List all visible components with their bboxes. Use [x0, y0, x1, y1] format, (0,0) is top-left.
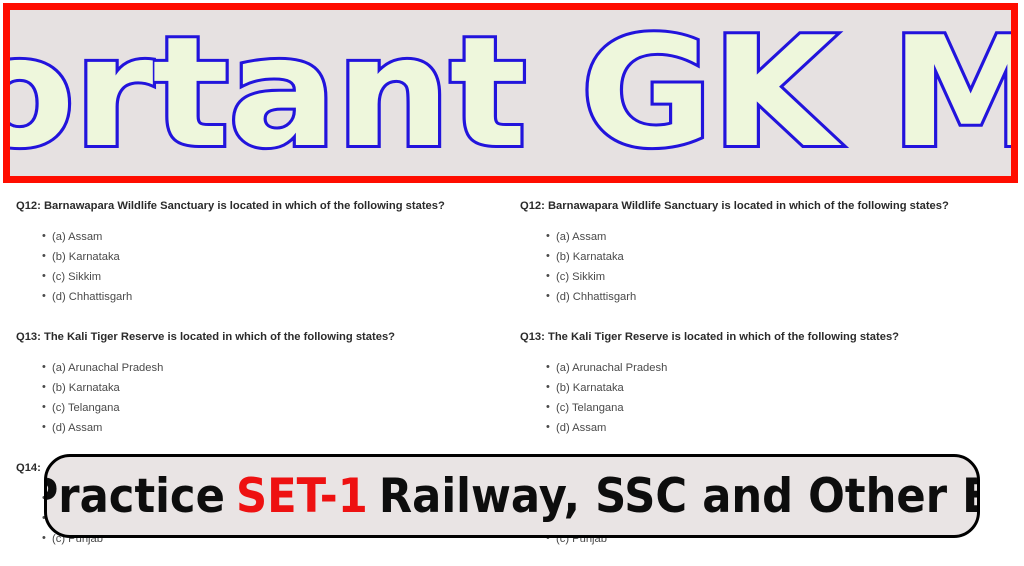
page-title: Important GK MCQs [3, 17, 1018, 169]
question-text-q12: Q12: Barnawapara Wildlife Sanctuary is l… [16, 199, 516, 214]
question-text-q12-right: Q12: Barnawapara Wildlife Sanctuary is l… [520, 199, 1020, 214]
list-item[interactable]: (a) Arunachal Pradesh [42, 363, 516, 383]
list-item[interactable]: (d) Assam [42, 423, 516, 443]
option-list-q12-right: (a) Assam (b) Karnataka (c) Sikkim (d) C… [520, 232, 1020, 312]
list-item[interactable]: (b) Karnataka [42, 383, 516, 403]
promo-banner: Free PracticeSET-1Railway, SSC and Other… [44, 454, 980, 538]
promo-accent-text: SET-1 [236, 469, 368, 524]
question-block-q12: Q12: Barnawapara Wildlife Sanctuary is l… [16, 199, 516, 312]
list-item[interactable]: (c) Telangana [42, 403, 516, 423]
list-item[interactable]: (b) Karnataka [546, 383, 1020, 403]
list-item[interactable]: (b) Karnataka [546, 252, 1020, 272]
promo-banner-text: Free PracticeSET-1Railway, SSC and Other… [44, 473, 980, 520]
list-item[interactable]: (a) Assam [546, 232, 1020, 252]
list-item[interactable]: (b) Karnataka [42, 252, 516, 272]
list-item[interactable]: (a) Arunachal Pradesh [546, 363, 1020, 383]
option-list-q13: (a) Arunachal Pradesh (b) Karnataka (c) … [16, 363, 516, 443]
question-block-q13: Q13: The Kali Tiger Reserve is located i… [16, 330, 516, 443]
list-item[interactable]: (a) Assam [42, 232, 516, 252]
list-item[interactable]: (c) Telangana [546, 403, 1020, 423]
list-item[interactable]: (c) Sikkim [42, 272, 516, 292]
list-item[interactable]: (d) Assam [546, 423, 1020, 443]
header-banner: Important GK MCQs [3, 3, 1018, 183]
promo-tail-text: Railway, SSC and Other Exams [379, 469, 980, 524]
option-list-q12: (a) Assam (b) Karnataka (c) Sikkim (d) C… [16, 232, 516, 312]
question-text-q13: Q13: The Kali Tiger Reserve is located i… [16, 330, 516, 345]
question-block-q12-right: Q12: Barnawapara Wildlife Sanctuary is l… [520, 199, 1020, 312]
promo-lead-text: Free Practice [44, 469, 225, 524]
option-list-q13-right: (a) Arunachal Pradesh (b) Karnataka (c) … [520, 363, 1020, 443]
list-item[interactable]: (c) Sikkim [546, 272, 1020, 292]
question-text-q13-right: Q13: The Kali Tiger Reserve is located i… [520, 330, 1020, 345]
question-block-q13-right: Q13: The Kali Tiger Reserve is located i… [520, 330, 1020, 443]
list-item[interactable]: (d) Chhattisgarh [546, 292, 1020, 312]
list-item[interactable]: (d) Chhattisgarh [42, 292, 516, 312]
